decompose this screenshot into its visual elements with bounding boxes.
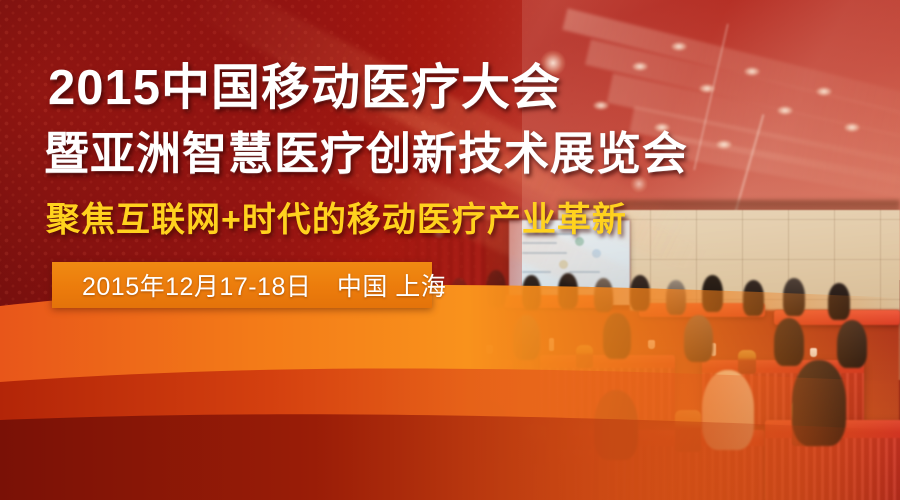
conference-banner: 2015中国移动医疗大会 暨亚洲智慧医疗创新技术展览会 聚焦互联网+时代的移动医…: [0, 0, 900, 500]
banner-tagline: 聚焦互联网+时代的移动医疗产业革新: [46, 192, 627, 241]
date-location-badge: 2015年12月17-18日 中国 上海: [52, 262, 432, 308]
banner-title-line2: 暨亚洲智慧医疗创新技术展览会: [44, 117, 688, 182]
date-location-text: 2015年12月17-18日 中国 上海: [52, 267, 446, 303]
banner-title-line1: 2015中国移动医疗大会: [48, 48, 561, 119]
banner-text-block: 2015中国移动医疗大会 暨亚洲智慧医疗创新技术展览会 聚焦互联网+时代的移动医…: [0, 0, 900, 500]
